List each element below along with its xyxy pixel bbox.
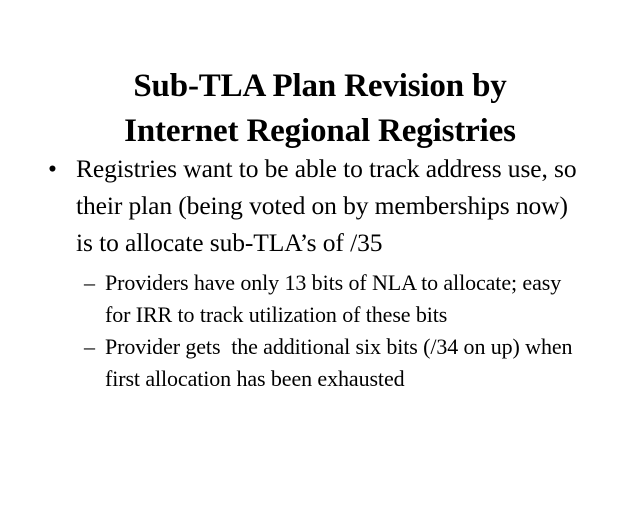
bullet-item-sub-2: – Provider gets the additional six bits … — [0, 331, 640, 395]
bullet-text-sub-1: Providers have only 13 bits of NLA to al… — [105, 267, 590, 331]
page-title: Sub-TLA Plan Revision by Internet Region… — [40, 64, 600, 154]
en-dash-bullet-icon: – — [84, 267, 104, 299]
slide-canvas: Sub-TLA Plan Revision by Internet Region… — [0, 0, 640, 512]
bullet-item-sub-1: – Providers have only 13 bits of NLA to … — [0, 267, 640, 331]
en-dash-bullet-icon: – — [84, 331, 104, 363]
slide-body: • Registries want to be able to track ad… — [0, 150, 640, 395]
bullet-item-primary: • Registries want to be able to track ad… — [0, 150, 640, 261]
bullet-text-sub-2: Provider gets the additional six bits (/… — [105, 331, 590, 395]
sub-bullet-list: – Providers have only 13 bits of NLA to … — [0, 267, 640, 395]
bullet-text-primary: Registries want to be able to track addr… — [76, 150, 585, 261]
round-bullet-icon: • — [48, 150, 70, 187]
